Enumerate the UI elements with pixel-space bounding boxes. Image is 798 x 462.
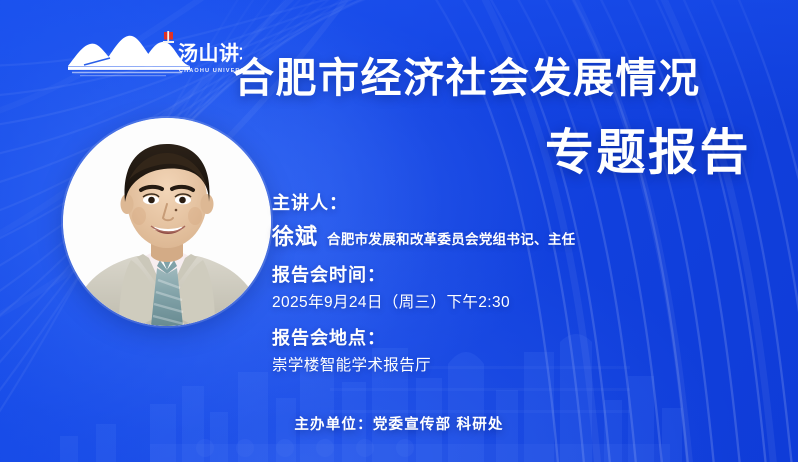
chaohu-university-logo: 汤山讲坛 CHAOHU UNIVERSITY — [62, 22, 242, 78]
time-label: 报告会时间： — [272, 262, 732, 289]
speaker-row: 徐斌 合肥市发展和改革委员会党组书记、主任 — [272, 219, 732, 251]
event-details: 主讲人： 徐斌 合肥市发展和改革委员会党组书记、主任 报告会时间： 2025年9… — [272, 190, 732, 389]
logo-red-flag-icon — [163, 31, 174, 43]
organizer-footer: 主办单位：党委宣传部 科研处 — [0, 413, 798, 434]
speaker-portrait — [63, 118, 271, 326]
venue-label: 报告会地点： — [272, 325, 732, 352]
poster-canvas: 汤山讲坛 CHAOHU UNIVERSITY — [0, 0, 798, 462]
time-value: 2025年9月24日（周三）下午2:30 — [272, 291, 732, 314]
venue-value: 崇学楼智能学术报告厅 — [272, 354, 732, 377]
speaker-position: 合肥市发展和改革委员会党组书记、主任 — [327, 228, 575, 248]
speaker-label: 主讲人： — [272, 190, 732, 217]
portrait-illustration — [63, 118, 271, 326]
speaker-name: 徐斌 — [272, 219, 318, 251]
page-title-line1: 合肥市经济社会发展情况 — [233, 57, 701, 100]
page-title-line2: 专题报告 — [545, 128, 751, 180]
